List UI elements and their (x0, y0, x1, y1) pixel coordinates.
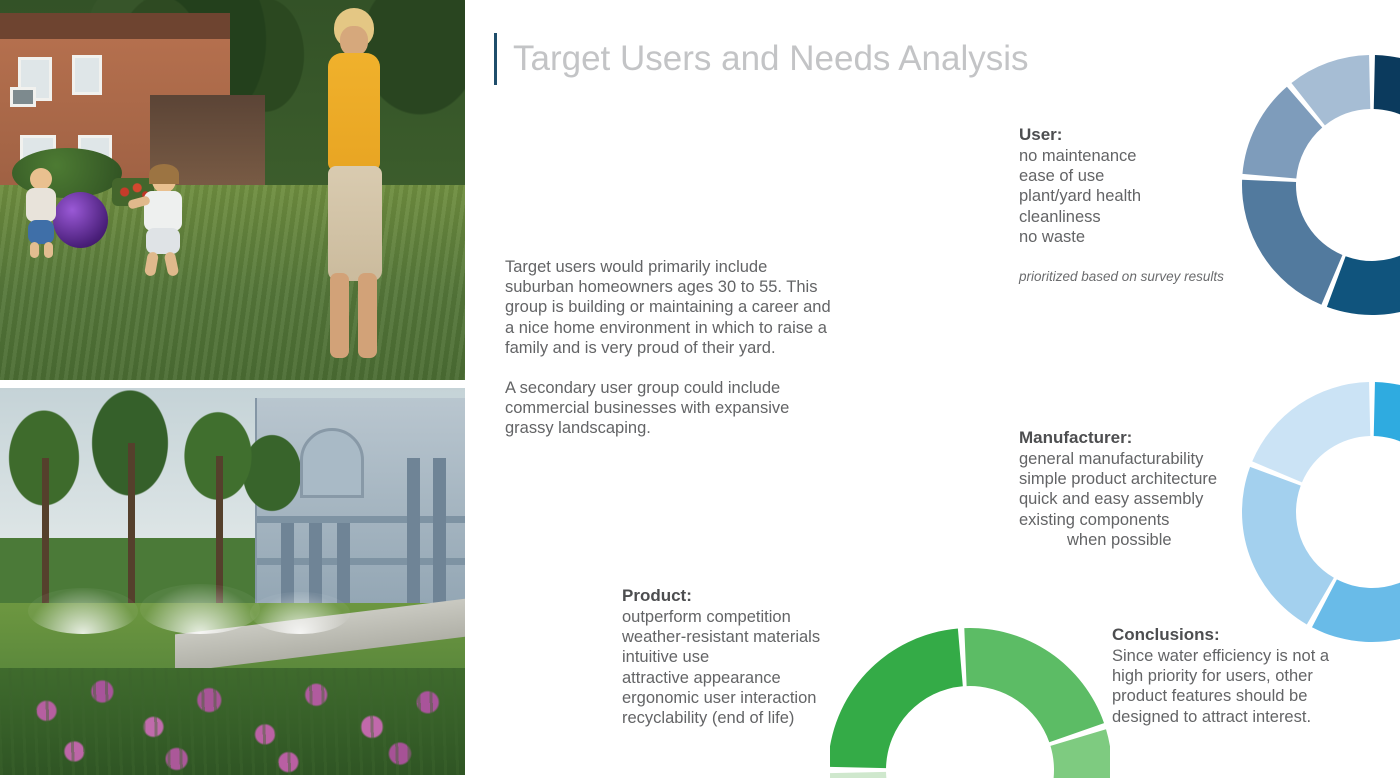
list-item: ease of use (1019, 166, 1279, 186)
list-item: no maintenance (1019, 146, 1279, 166)
donut-segment: quick and easy assembly (1242, 467, 1334, 625)
donut-segment: existing components when possible (1252, 382, 1370, 482)
conclusions-text: Since water efficiency is not a high pri… (1112, 646, 1362, 727)
list-item: ergonomic user interaction (622, 688, 852, 708)
photo-divider (0, 380, 465, 388)
list-item: cleanliness (1019, 207, 1279, 227)
donut-segment: intuitive use (1029, 729, 1110, 778)
user-heading: User: (1019, 125, 1279, 145)
purple-flower-bed (0, 668, 465, 775)
list-item: quick and easy assembly (1019, 489, 1259, 509)
manufacturer-needs-list: general manufacturability simple product… (1019, 449, 1259, 550)
manufacturer-priorities-donut: general manufacturabilitysimple product … (1242, 375, 1400, 650)
page-title: Target Users and Needs Analysis (513, 33, 1029, 85)
adult-woman-figure (300, 8, 400, 363)
list-item-continuation: when possible (1019, 530, 1259, 550)
list-item: no waste (1019, 227, 1279, 247)
manufacturer-donut-svg: general manufacturabilitysimple product … (1242, 375, 1400, 645)
list-item: recyclability (end of life) (622, 708, 852, 728)
sprinkler-commercial-landscape-photo (0, 388, 465, 775)
photo-column (0, 0, 465, 775)
product-priorities-donut: outperform competitionweather-resistant … (830, 628, 1110, 783)
body-paragraph-1: Target users would primarily include sub… (505, 257, 835, 358)
user-survey-caption: prioritized based on survey results (1019, 269, 1279, 284)
list-item: outperform competition (622, 607, 852, 627)
product-donut-svg: outperform competitionweather-resistant … (830, 628, 1110, 778)
body-copy: Target users would primarily include sub… (505, 257, 835, 439)
manufacturer-heading: Manufacturer: (1019, 428, 1259, 448)
list-item: intuitive use (622, 647, 852, 667)
list-item: simple product architecture (1019, 469, 1259, 489)
tree-trunk (128, 443, 135, 623)
arched-window (300, 428, 364, 498)
user-needs-block: User: no maintenance ease of use plant/y… (1019, 125, 1279, 284)
product-heading: Product: (622, 586, 852, 606)
manufacturer-needs-block: Manufacturer: general manufacturability … (1019, 428, 1259, 550)
list-item: plant/yard health (1019, 186, 1279, 206)
slide-header: Target Users and Needs Analysis (494, 33, 1029, 85)
toddler-figure (18, 168, 64, 258)
child-figure (132, 168, 194, 278)
user-needs-list: no maintenance ease of use plant/yard he… (1019, 146, 1279, 247)
title-accent-bar (494, 33, 497, 85)
donut-segment: no maintenance (1374, 55, 1400, 222)
donut-segment: general manufacturability (1374, 382, 1400, 549)
donut-segment: plant/yard health (1242, 180, 1342, 305)
sprinkler-spray (140, 584, 260, 634)
list-item: existing components (1019, 510, 1259, 530)
user-donut-svg: no maintenanceease of useplant/yard heal… (1242, 48, 1400, 318)
product-needs-block: Product: outperform competition weather-… (622, 586, 852, 728)
donut-segment: weather-resistant materials (964, 628, 1104, 742)
list-item: attractive appearance (622, 668, 852, 688)
sprinkler-spray (250, 592, 350, 634)
sprinkler-spray (28, 588, 138, 634)
backyard-family-playing-photo (0, 0, 465, 380)
list-item: weather-resistant materials (622, 627, 852, 647)
donut-segment: outperform competition (830, 629, 963, 769)
user-priorities-donut: no maintenanceease of useplant/yard heal… (1242, 48, 1400, 323)
body-paragraph-2: A secondary user group could include com… (505, 378, 835, 439)
list-item: general manufacturability (1019, 449, 1259, 469)
product-needs-list: outperform competition weather-resistant… (622, 607, 852, 728)
